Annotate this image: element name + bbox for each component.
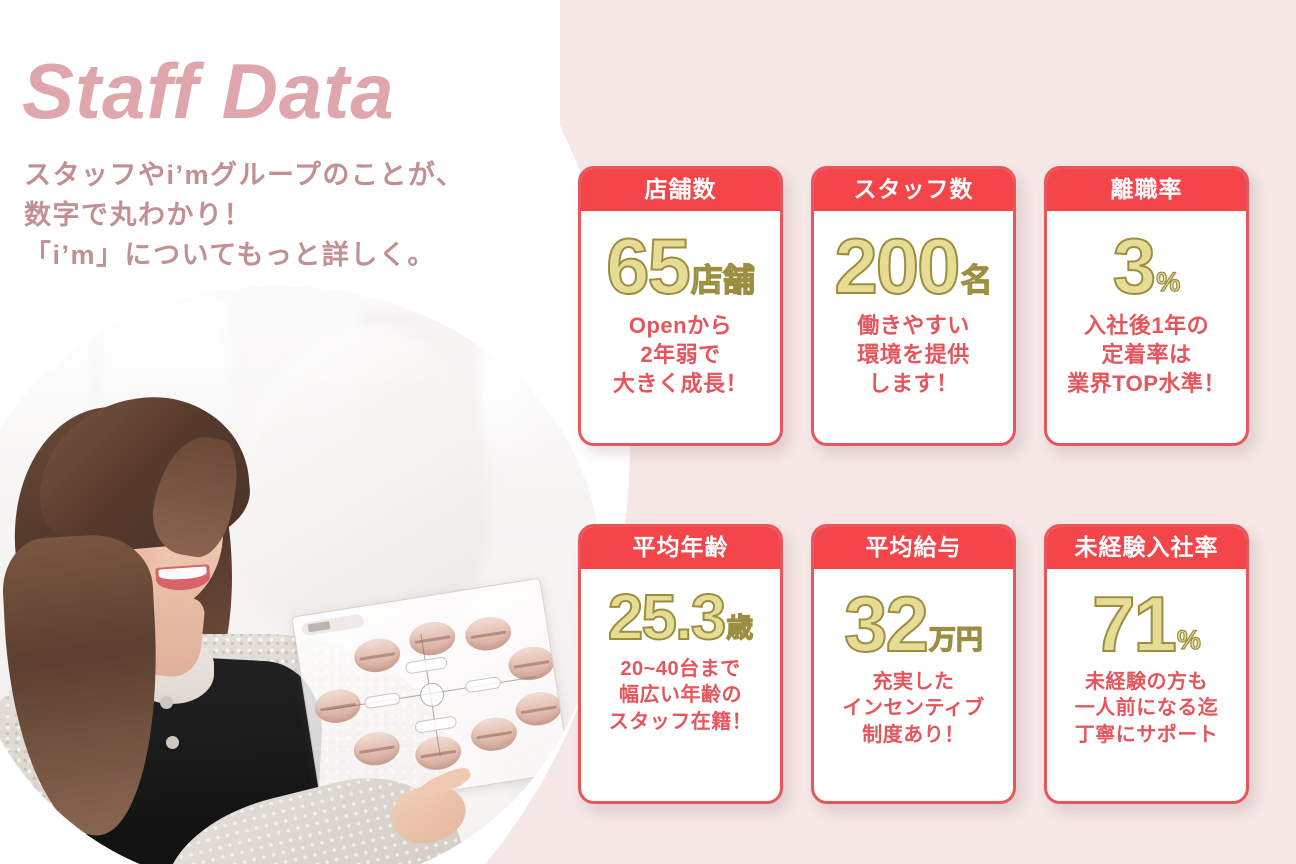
caption-line: 環境を提供 <box>857 340 970 369</box>
stat-card-average-age: 平均年齢 25.3 歳 20~40台まで 幅広い年齢の スタッフ在籍！ <box>578 524 783 804</box>
card-header-average-age: 平均年齢 <box>581 527 780 569</box>
board-eye-3 <box>463 614 514 654</box>
metric-value-average-salary: 32 <box>844 587 927 661</box>
metric-value-average-age: 25.3 <box>608 587 725 648</box>
caption-line: スタッフ在籍！ <box>609 709 753 735</box>
caption-line: します！ <box>857 369 970 398</box>
card-header-staff-count: スタッフ数 <box>814 169 1013 211</box>
metric-inexperienced-hire-rate: 71 % <box>1092 587 1201 661</box>
caption-line: 入社後1年の <box>1067 311 1226 340</box>
stat-card-stores: 店舗数 65 店舗 Openから 2年弱で 大きく成長！ <box>578 166 783 446</box>
board-pill-left <box>364 692 401 709</box>
board-eye-9 <box>469 714 520 754</box>
caption-line: 丁寧にサポート <box>1075 722 1219 748</box>
stats-card-grid: 店舗数 65 店舗 Openから 2年弱で 大きく成長！ スタッフ数 200 名 <box>578 166 1278 804</box>
photo-canvas <box>0 286 600 864</box>
card-caption-inexperienced-hire-rate: 未経験の方も 一人前になる迄 丁寧にサポート <box>1075 669 1219 748</box>
caption-line: 2年弱で <box>613 340 748 369</box>
page-title: Staff Data <box>22 52 464 130</box>
card-caption-turnover-rate: 入社後1年の 定着率は 業界TOP水準！ <box>1067 311 1226 398</box>
caption-line: 未経験の方も <box>1075 669 1219 695</box>
card-header-turnover-rate: 離職率 <box>1047 169 1246 211</box>
subtitle-line-3: 「i’m」についてもっと詳しく。 <box>24 236 464 276</box>
stat-card-average-salary: 平均給与 32 万円 充実した インセンティブ 制度あり！ <box>811 524 1016 804</box>
metric-average-salary: 32 万円 <box>844 587 983 661</box>
card-caption-average-age: 20~40台まで 幅広い年齢の スタッフ在籍！ <box>609 656 753 735</box>
subtitle-line-2: 数字で丸わかり！ <box>24 196 464 236</box>
metric-value-staff-count: 200 <box>834 229 958 303</box>
person-teeth <box>158 566 207 580</box>
board-eye-8 <box>413 733 464 773</box>
metric-unit-inexperienced-hire-rate: % <box>1177 627 1201 654</box>
caption-line: 制度あり！ <box>842 722 984 748</box>
caption-line: 働きやすい <box>857 311 970 340</box>
caption-line: インセンティブ <box>842 695 984 721</box>
caption-line: 定着率は <box>1067 340 1226 369</box>
card-body-inexperienced-hire-rate: 71 % 未経験の方も 一人前になる迄 丁寧にサポート <box>1047 569 1246 801</box>
metric-unit-stores: 店舗 <box>691 264 755 296</box>
metric-unit-average-salary: 万円 <box>929 627 983 654</box>
board-pill-right <box>464 676 501 693</box>
metric-unit-average-age: 歳 <box>726 615 753 642</box>
card-body-average-salary: 32 万円 充実した インセンティブ 制度あり！ <box>814 569 1013 801</box>
card-body-stores: 65 店舗 Openから 2年弱で 大きく成長！ <box>581 211 780 443</box>
board-center-node <box>418 681 445 708</box>
counseling-board <box>291 578 571 812</box>
caption-line: 業界TOP水準！ <box>1067 369 1226 398</box>
card-header-stores: 店舗数 <box>581 169 780 211</box>
stat-card-staff-count: スタッフ数 200 名 働きやすい 環境を提供 します！ <box>811 166 1016 446</box>
caption-line: Openから <box>613 311 748 340</box>
card-header-inexperienced-hire-rate: 未経験入社率 <box>1047 527 1246 569</box>
card-caption-staff-count: 働きやすい 環境を提供 します！ <box>857 311 970 398</box>
board-eye-7 <box>352 729 403 769</box>
caption-line: 20~40台まで <box>609 656 753 682</box>
card-body-staff-count: 200 名 働きやすい 環境を提供 します！ <box>814 211 1013 443</box>
headline-block: Staff Data スタッフやi’mグループのことが、 数字で丸わかり！ 「i… <box>22 52 464 276</box>
caption-line: 幅広い年齢の <box>609 682 753 708</box>
metric-unit-staff-count: 名 <box>961 264 993 296</box>
person-button-top <box>160 696 173 709</box>
metric-turnover-rate: 3 % <box>1113 229 1180 303</box>
metric-value-stores: 65 <box>606 229 689 303</box>
card-body-turnover-rate: 3 % 入社後1年の 定着率は 業界TOP水準！ <box>1047 211 1246 443</box>
metric-stores: 65 店舗 <box>606 229 755 303</box>
subtitle-line-1: スタッフやi’mグループのことが、 <box>24 156 464 196</box>
staff-data-infographic: Staff Data スタッフやi’mグループのことが、 数字で丸わかり！ 「i… <box>0 0 1296 864</box>
page-subtitle: スタッフやi’mグループのことが、 数字で丸わかり！ 「i’m」についてもっと詳… <box>24 156 464 276</box>
caption-line: 充実した <box>842 669 984 695</box>
metric-staff-count: 200 名 <box>834 229 992 303</box>
metric-unit-turnover-rate: % <box>1156 269 1180 296</box>
caption-line: 大きく成長！ <box>613 369 748 398</box>
card-caption-average-salary: 充実した インセンティブ 制度あり！ <box>842 669 984 748</box>
stat-card-turnover-rate: 離職率 3 % 入社後1年の 定着率は 業界TOP水準！ <box>1044 166 1249 446</box>
caption-line: 一人前になる迄 <box>1075 695 1219 721</box>
card-caption-stores: Openから 2年弱で 大きく成長！ <box>613 311 748 398</box>
staff-photo <box>0 286 600 864</box>
card-body-average-age: 25.3 歳 20~40台まで 幅広い年齢の スタッフ在籍！ <box>581 569 780 801</box>
board-eye-6 <box>513 689 564 729</box>
metric-value-turnover-rate: 3 <box>1113 229 1154 303</box>
board-eye-2 <box>407 619 458 659</box>
metric-average-age: 25.3 歳 <box>608 587 754 648</box>
metric-value-inexperienced-hire-rate: 71 <box>1092 587 1175 661</box>
stat-card-inexperienced-hire-rate: 未経験入社率 71 % 未経験の方も 一人前になる迄 丁寧にサポート <box>1044 524 1249 804</box>
board-eye-5 <box>312 686 363 726</box>
card-header-average-salary: 平均給与 <box>814 527 1013 569</box>
board-eye-1 <box>352 636 403 676</box>
person-button-bottom <box>166 736 179 749</box>
